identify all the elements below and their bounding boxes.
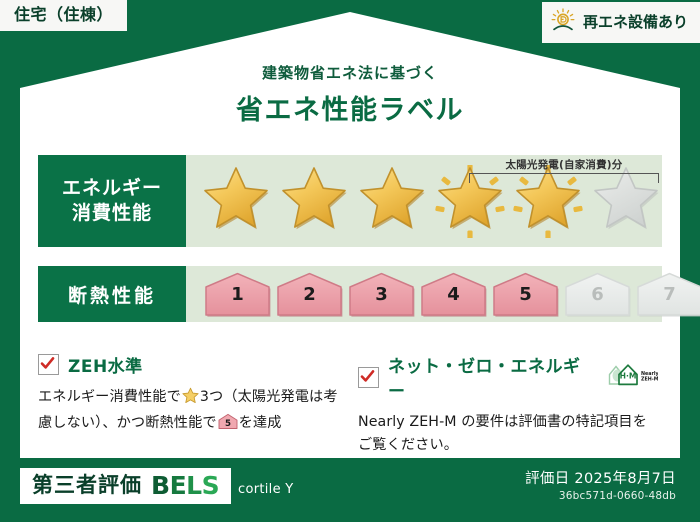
grade-badge-icon: 5 (218, 413, 238, 438)
zeh-panel-body: エネルギー消費性能で3つ（太陽光発電は考慮しない）、かつ断熱性能で5を達成 (38, 386, 338, 438)
zeh-body-part3: を達成 (239, 415, 282, 431)
bels-certification-box: 第三者評価 BELS (20, 468, 231, 504)
nze-panel-header: ネット・ゼロ・エネルギー H·M Nearly ZEH-M (358, 352, 658, 402)
evaluation-id: 36bc571d-0660-48db (525, 490, 676, 504)
bels-letter-b: B (151, 473, 170, 498)
nze-panel-body: Nearly ZEH-M の要件は評価書の特記項目をご覧ください。 (358, 411, 658, 457)
check-icon (360, 369, 375, 384)
insulation-grade-number: 6 (564, 286, 631, 304)
evaluation-date: 評価日 2025年8月7日 (525, 471, 676, 488)
renewable-equipment-badge: 再エネ設備あり (542, 2, 700, 43)
insulation-grade-number: 4 (420, 286, 487, 304)
evaluation-info: 評価日 2025年8月7日 36bc571d-0660-48db (525, 471, 676, 504)
zeh-standard-panel: ZEH水準 エネルギー消費性能で3つ（太陽光発電は考慮しない）、かつ断熱性能で5… (38, 352, 338, 438)
energy-performance-label: エネルギー 消費性能 (38, 155, 186, 247)
insulation-grade-number: 3 (348, 286, 415, 304)
insulation-performance-body: 1234567 (186, 266, 662, 322)
energy-label-root: 住宅（住棟） 再エネ設備あり 建築物省エ (0, 0, 700, 522)
bels-logo: BELS (151, 473, 219, 498)
solar-bracket (469, 173, 659, 183)
zeh-panel-title: ZEH水準 (68, 352, 143, 377)
third-party-eval-label: 第三者評価 (32, 475, 142, 496)
label-main-title: 省エネ性能ラベル (0, 88, 700, 127)
svg-text:5: 5 (225, 419, 231, 429)
insulation-performance-row: 断熱性能 1234567 (38, 266, 662, 322)
nze-panel-title: ネット・ゼロ・エネルギー (388, 352, 593, 402)
zeh-panel-header: ZEH水準 (38, 352, 338, 377)
svg-text:H·M: H·M (620, 372, 637, 381)
insulation-grade-achieved: 2 (276, 271, 343, 317)
energy-label-line1: エネルギー (62, 176, 162, 201)
svg-text:Nearly: Nearly (641, 371, 658, 377)
label-subtitle: 建築物省エネ法に基づく (0, 62, 700, 83)
solar-generation-annotation: 太陽光発電(自家消費)分 (469, 157, 659, 183)
svg-text:ZEH-M: ZEH-M (641, 376, 658, 382)
renewable-badge-label: 再エネ設備あり (583, 15, 688, 30)
net-zero-energy-panel: ネット・ゼロ・エネルギー H·M Nearly ZEH-M Nearly ZEH… (358, 352, 658, 457)
insulation-grade-inactive: 6 (564, 271, 631, 317)
nze-checkbox[interactable] (358, 367, 379, 388)
check-icon (40, 356, 55, 371)
insulation-performance-label: 断熱性能 (38, 266, 186, 322)
label-title-block: 建築物省エネ法に基づく 省エネ性能ラベル (0, 62, 700, 127)
gold-star-icon (182, 387, 199, 412)
insulation-grade-achieved: 4 (420, 271, 487, 317)
star-filled (278, 165, 351, 238)
insulation-grade-achieved: 3 (348, 271, 415, 317)
insulation-grade-achieved: 5 (492, 271, 559, 317)
star-filled (200, 165, 273, 238)
energy-label-line2: 消費性能 (72, 201, 152, 226)
insulation-grade-achieved: 1 (204, 271, 271, 317)
bels-letter-s: S (202, 473, 220, 498)
insulation-grade-number: 5 (492, 286, 559, 304)
solar-annotation-text: 太陽光発電(自家消費)分 (469, 157, 659, 172)
zeh-checkbox[interactable] (38, 354, 59, 375)
zeh-body-part1: エネルギー消費性能で (38, 389, 181, 405)
solar-sun-icon (550, 8, 576, 36)
insulation-grade-number: 2 (276, 286, 343, 304)
project-name: cortile Y (238, 482, 294, 497)
energy-performance-row: エネルギー 消費性能 太陽光発電(自家消費)分 (38, 155, 662, 247)
bels-letter-e: E (170, 473, 187, 498)
star-filled (356, 165, 429, 238)
nearly-zeh-m-logo-icon: H·M Nearly ZEH-M (606, 362, 658, 392)
insulation-grade-number: 1 (204, 286, 271, 304)
building-type-tag: 住宅（住棟） (0, 0, 127, 31)
footer-bar: 第三者評価 BELS cortile Y 評価日 2025年8月7日 36bc5… (0, 458, 700, 522)
energy-performance-body: 太陽光発電(自家消費)分 (186, 155, 662, 247)
bels-letter-l: L (186, 473, 201, 498)
insulation-grade-scale: 1234567 (204, 266, 662, 322)
insulation-grade-number: 7 (636, 286, 700, 304)
insulation-grade-inactive: 7 (636, 271, 700, 317)
